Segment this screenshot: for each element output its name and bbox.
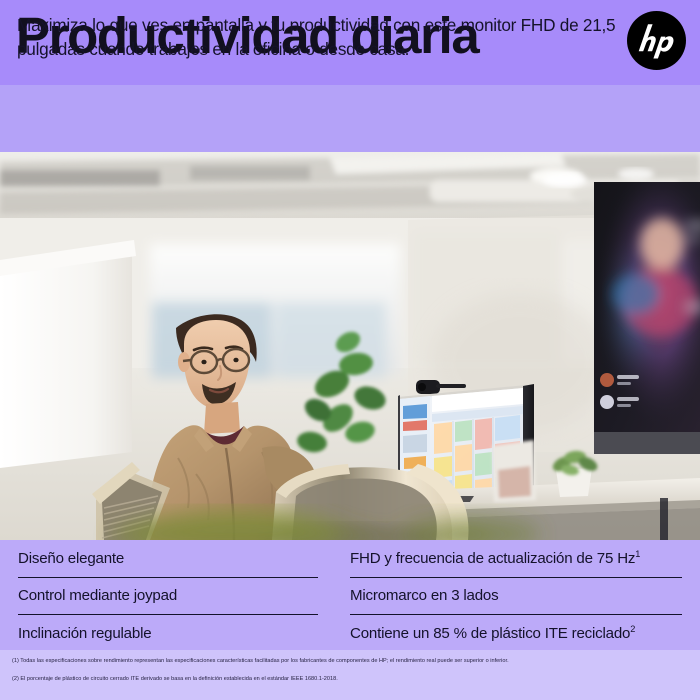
features-band: Diseño elegante Control mediante joypad … — [0, 540, 700, 650]
feature-row: Control mediante joypad — [18, 577, 318, 615]
features-column-right: FHD y frecuencia de actualización de 75 … — [350, 540, 682, 650]
footnote-marker: 1 — [635, 549, 640, 559]
feature-row: FHD y frecuencia de actualización de 75 … — [350, 540, 682, 577]
feature-label: Contiene un 85 % de plástico ITE recicla… — [350, 625, 635, 642]
feature-row: Inclinación regulable — [18, 614, 318, 652]
hp-monitor-marketing-banner: Productividad diaria Maximiza lo que ves… — [0, 0, 700, 700]
hero-photo — [0, 152, 700, 540]
features-column-left: Diseño elegante Control mediante joypad … — [18, 540, 318, 650]
footnote-1: (1) Todas las especificaciones sobre ren… — [12, 657, 690, 666]
subhead-band — [0, 85, 700, 152]
feature-label: Micromarco en 3 lados — [350, 587, 498, 604]
feature-label-text: FHD y frecuencia de actualización de 75 … — [350, 550, 635, 567]
feature-label-text: Contiene un 85 % de plástico ITE recicla… — [350, 625, 630, 642]
subhead-text: Maximiza lo que ves en pantalla y tu pro… — [17, 13, 677, 62]
footnote-2: (2) El porcentaje de plástico de circuit… — [12, 675, 690, 684]
feature-label: Control mediante joypad — [18, 587, 177, 604]
feature-label: FHD y frecuencia de actualización de 75 … — [350, 550, 640, 567]
feature-row: Diseño elegante — [18, 540, 318, 577]
feature-label: Inclinación regulable — [18, 625, 151, 642]
footnote-marker: 2 — [630, 624, 635, 634]
feature-row: Micromarco en 3 lados — [350, 577, 682, 615]
footnotes-band: (1) Todas las especificaciones sobre ren… — [0, 650, 700, 700]
feature-row: Contiene un 85 % de plástico ITE recicla… — [350, 614, 682, 652]
feature-label: Diseño elegante — [18, 550, 124, 567]
